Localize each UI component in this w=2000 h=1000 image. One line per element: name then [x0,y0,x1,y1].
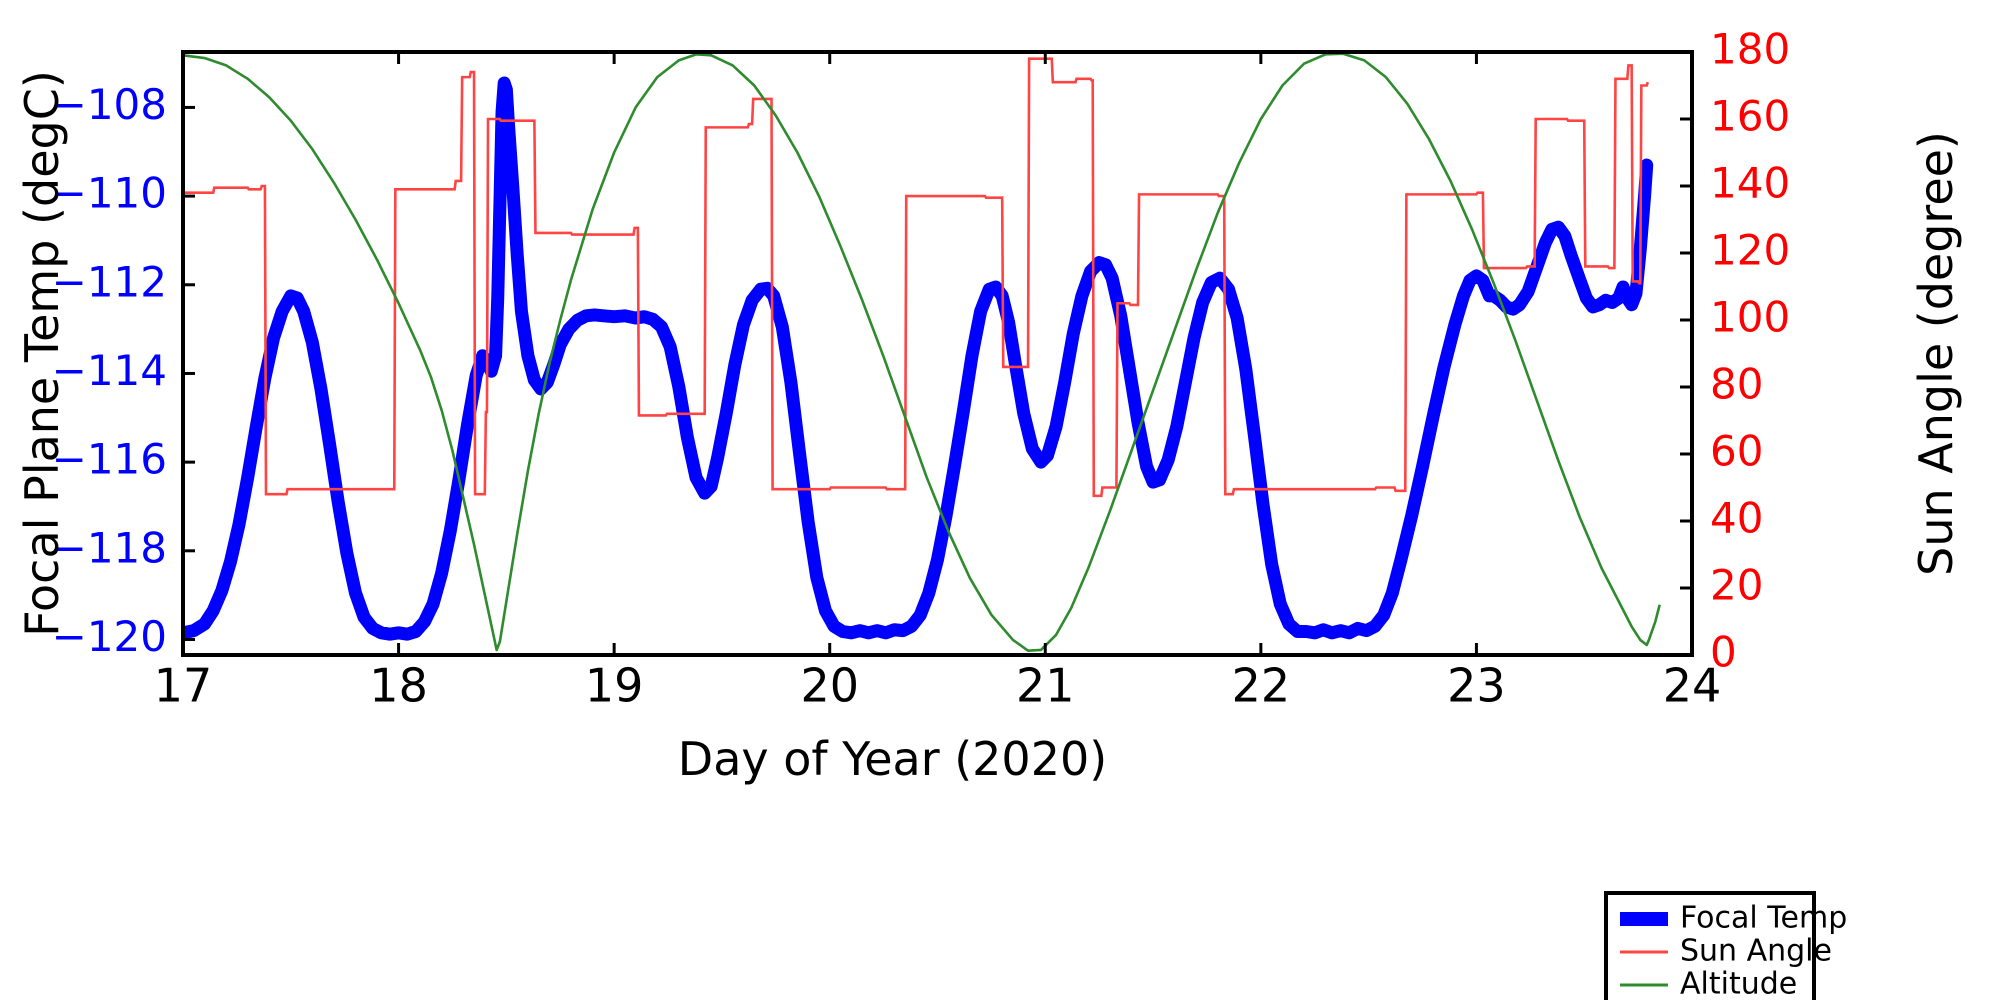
y-right-tick-label: 120 [1710,226,1790,275]
legend-label-sun-angle[interactable]: Sun Angle [1680,934,1832,969]
y-right-tick-label: 0 [1710,628,1737,677]
legend-label-focal-temp[interactable]: Focal Temp [1680,901,1847,936]
x-tick-label: 19 [585,658,644,712]
chart-container: 1718192021222324−108−110−112−114−116−118… [0,0,2000,1000]
x-axis-title: Day of Year (2020) [678,732,1107,786]
x-tick-label: 23 [1447,658,1506,712]
focal-plane-temperature-chart: 1718192021222324−108−110−112−114−116−118… [0,0,2000,1000]
x-tick-label: 22 [1232,658,1291,712]
y-right-tick-label: 100 [1710,293,1790,342]
legend-label-altitude[interactable]: Altitude [1680,967,1797,1000]
chart-background [0,0,2000,1000]
x-tick-label: 21 [1016,658,1075,712]
legend[interactable]: Focal TempSun AngleAltitude [1606,893,1847,1000]
y-right-tick-label: 180 [1710,25,1790,74]
y-right-tick-label: 160 [1710,92,1790,141]
y-right-tick-label: 80 [1710,360,1763,409]
x-tick-label: 17 [154,658,213,712]
y-right-tick-label: 40 [1710,494,1763,543]
y-right-tick-label: 20 [1710,561,1763,610]
y-right-axis-title: Sun Angle (degree) [1909,131,1963,576]
y-right-tick-label: 140 [1710,159,1790,208]
x-tick-label: 18 [369,658,428,712]
y-right-tick-label: 60 [1710,427,1763,476]
x-tick-label: 20 [800,658,859,712]
y-left-axis-title: Focal Plane Temp (degC) [15,70,69,637]
